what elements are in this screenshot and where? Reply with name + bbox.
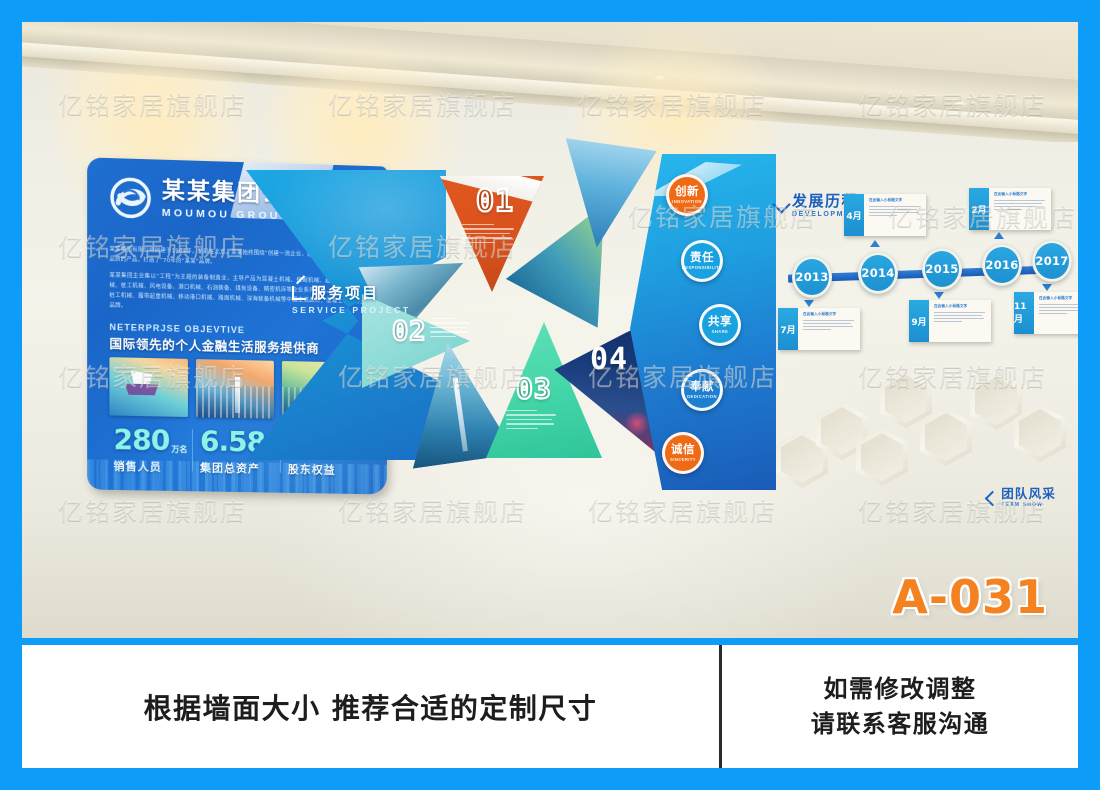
card-lines (803, 320, 856, 331)
wall-culture-graphic: 某某集团公司 MOUMOU GROUP 某某集团有限公司创建于1984年，总部在… (70, 140, 1060, 512)
card-month: 4月 (844, 194, 864, 236)
card-lines (1039, 304, 1078, 315)
service-project-title-cn: 服务项目 (292, 282, 422, 303)
value-cn: 共享 (708, 316, 732, 328)
wall-photo-background: 某某集团公司 MOUMOU GROUP 某某集团有限公司创建于1984年，总部在… (22, 22, 1078, 638)
tower-shape (235, 377, 240, 413)
card-body: 在此输入小标题文字 (798, 308, 860, 350)
card-body: 在此输入小标题文字 (929, 300, 991, 342)
timeline-connector-up (994, 232, 1004, 239)
value-circle-sincerity[interactable]: 诚信 SINCERITY (662, 432, 704, 474)
card-title: 在此输入小标题文字 (869, 198, 922, 203)
banner-right-cell: 如需修改调整 请联系客服沟通 (722, 645, 1078, 768)
value-en: SINCERITY (670, 457, 696, 462)
value-circle-innovation[interactable]: 创新 INNOVATION (666, 174, 708, 216)
card-month: 9月 (909, 300, 929, 342)
chart-arrow-icon (292, 286, 306, 300)
timeline-year-2015[interactable]: 2015 (922, 248, 962, 290)
value-en: SHARE (712, 329, 729, 334)
value-cn: 诚信 (671, 444, 695, 456)
banner-right-line-1: 如需修改调整 (824, 672, 977, 707)
stat-sales-people: 280 万名 销售人员 (113, 426, 187, 476)
swirl-globe-logo-icon (109, 176, 151, 219)
petal-01-number: 01 (476, 184, 514, 219)
history-card-11yue[interactable]: 11月 在此输入小标题文字 (1014, 292, 1078, 334)
value-circle-responsibility[interactable]: 责任 RESPONSIBILITY (681, 240, 723, 282)
timeline-year-2013[interactable]: 2013 (792, 256, 832, 298)
team-hexagon-frame[interactable] (880, 370, 932, 428)
card-month: 11月 (1014, 292, 1034, 334)
card-month: 7月 (778, 308, 798, 350)
petal-03-number: 03 (516, 372, 552, 405)
value-en: INNOVATION (672, 199, 702, 204)
timeline-year-2017[interactable]: 2017 (1032, 240, 1072, 282)
card-title: 在此输入小标题文字 (803, 312, 856, 317)
timeline-connector-down (934, 292, 944, 299)
photo-city-skyline (196, 359, 274, 419)
card-title: 在此输入小标题文字 (934, 304, 987, 309)
card-body: 在此输入小标题文字 (1034, 292, 1078, 334)
card-body: 在此输入小标题文字 (989, 188, 1051, 230)
banner-left-text: 根据墙面大小 推荐合适的定制尺寸 (144, 687, 598, 727)
team-showcase-section: 团队风采 TEAM SHOW (770, 362, 1060, 512)
team-title-en: TEAM SHOW (1001, 502, 1056, 508)
value-circle-dedication[interactable]: 奉献 DEDICATION (681, 369, 723, 411)
ceiling-spotlight (952, 100, 968, 107)
petal-01-caption-lines (462, 224, 516, 246)
petal-04-number: 04 (590, 342, 628, 377)
timeline-connector-up (870, 240, 880, 247)
card-lines (994, 200, 1047, 211)
stat-divider (192, 429, 193, 471)
stat-label: 股东权益 (288, 461, 379, 479)
banner-left-cell: 根据墙面大小 推荐合适的定制尺寸 (22, 645, 722, 768)
value-cn: 创新 (675, 186, 699, 198)
service-project-title-en: SERVICE PROJECT (292, 305, 422, 315)
petal-02-number: 02 (392, 316, 427, 347)
photo-sailboat-sunset (109, 357, 188, 417)
timeline-year-2016[interactable]: 2016 (982, 244, 1022, 286)
service-project-label: 服务项目 SERVICE PROJECT (292, 282, 422, 315)
development-history-section: 发展历程 DEVELOPMENT HISTORY 2013 2014 2015 … (770, 186, 1060, 376)
card-lines (869, 206, 922, 217)
arrow-up-left-icon (986, 491, 998, 503)
stat-label: 销售人员 (113, 458, 187, 475)
value-cn: 奉献 (690, 381, 714, 393)
card-title: 在此输入小标题文字 (994, 192, 1047, 197)
sailboat-shape (124, 370, 160, 395)
outer-blue-frame: 某某集团公司 MOUMOU GROUP 某某集团有限公司创建于1984年，总部在… (0, 0, 1100, 790)
stat-label: 集团总资产 (200, 459, 283, 476)
bottom-banner: 根据墙面大小 推荐合适的定制尺寸 如需修改调整 请联系客服沟通 (22, 645, 1078, 768)
history-card-4yue[interactable]: 4月 在此输入小标题文字 (844, 194, 926, 236)
history-card-7yue[interactable]: 7月 在此输入小标题文字 (778, 308, 860, 350)
history-card-9yue[interactable]: 9月 在此输入小标题文字 (909, 300, 991, 342)
value-cn: 责任 (690, 252, 714, 264)
team-title-cn: 团队风采 (1001, 488, 1056, 501)
value-circle-share[interactable]: 共享 SHARE (699, 304, 741, 346)
value-en: RESPONSIBILITY (682, 265, 723, 270)
petal-02-caption-lines (430, 318, 472, 340)
stat-value: 280 (113, 426, 169, 455)
value-en: DEDICATION (687, 394, 717, 399)
arrow-down-right-icon (774, 198, 788, 212)
history-card-2yue[interactable]: 2月 在此输入小标题文字 (969, 188, 1051, 230)
team-hexagon-frame[interactable] (920, 408, 972, 466)
timeline-year-2014[interactable]: 2014 (858, 252, 898, 294)
card-title: 在此输入小标题文字 (1039, 296, 1078, 301)
card-body: 在此输入小标题文字 (864, 194, 926, 236)
banner-right-line-2: 请联系客服沟通 (811, 707, 990, 742)
petal-03-caption-lines (506, 410, 558, 432)
timeline-connector-down (1042, 284, 1052, 291)
team-label: 团队风采 TEAM SHOW (986, 488, 1056, 509)
tower-shape (453, 378, 468, 452)
stat-unit: 万名 (171, 444, 187, 455)
card-lines (934, 312, 987, 323)
objective-label-cn: 国际领先的个人金融生活服务提供商 (109, 333, 319, 357)
product-code-label: A-031 (892, 570, 1048, 624)
timeline-connector-down (804, 300, 814, 307)
card-month: 2月 (969, 188, 989, 230)
